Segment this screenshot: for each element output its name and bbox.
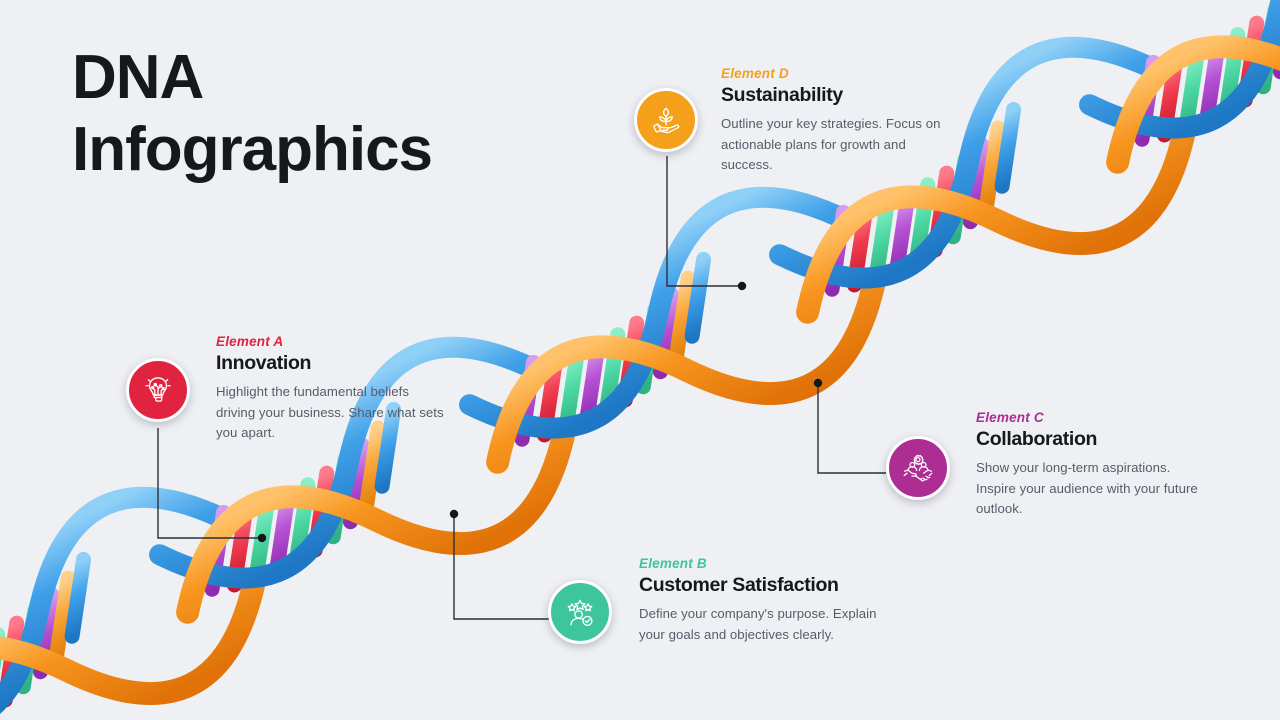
element-b-eyebrow: Element B — [639, 556, 879, 571]
element-a-text: Element A Innovation Highlight the funda… — [216, 334, 448, 444]
hand-plant-icon — [649, 103, 683, 137]
connector-element-a — [158, 428, 262, 538]
element-b-body: Define your company's purpose. Explain y… — [639, 604, 879, 645]
element-d-text: Element D Sustainability Outline your ke… — [721, 66, 957, 176]
page-title-line-1: DNA — [72, 42, 432, 114]
page-title-line-2: Infographics — [72, 114, 432, 186]
customer-rating-icon — [563, 595, 597, 629]
element-d-icon-badge[interactable] — [634, 88, 698, 152]
element-c-body: Show your long-term aspirations. Inspire… — [976, 458, 1212, 520]
element-a-body: Highlight the fundamental beliefs drivin… — [216, 382, 448, 444]
handshake-teamwork-icon — [901, 451, 935, 485]
element-d-eyebrow: Element D — [721, 66, 957, 81]
element-a-headline: Innovation — [216, 352, 448, 375]
lightbulb-icon — [141, 373, 175, 407]
element-d-headline: Sustainability — [721, 84, 957, 107]
connector-element-b — [454, 514, 549, 619]
element-b-text: Element B Customer Satisfaction Define y… — [639, 556, 879, 645]
element-c-icon-badge[interactable] — [886, 436, 950, 500]
element-a-eyebrow: Element A — [216, 334, 448, 349]
infographic-canvas: DNA Infographics Element A Innovation Hi… — [0, 0, 1280, 720]
page-title: DNA Infographics — [72, 42, 432, 186]
element-d-body: Outline your key strategies. Focus on ac… — [721, 114, 957, 176]
connector-element-c — [818, 383, 886, 473]
element-b-headline: Customer Satisfaction — [639, 574, 879, 597]
element-a-icon-badge[interactable] — [126, 358, 190, 422]
element-c-eyebrow: Element C — [976, 410, 1212, 425]
element-c-headline: Collaboration — [976, 428, 1212, 451]
element-c-text: Element C Collaboration Show your long-t… — [976, 410, 1212, 520]
element-b-icon-badge[interactable] — [548, 580, 612, 644]
